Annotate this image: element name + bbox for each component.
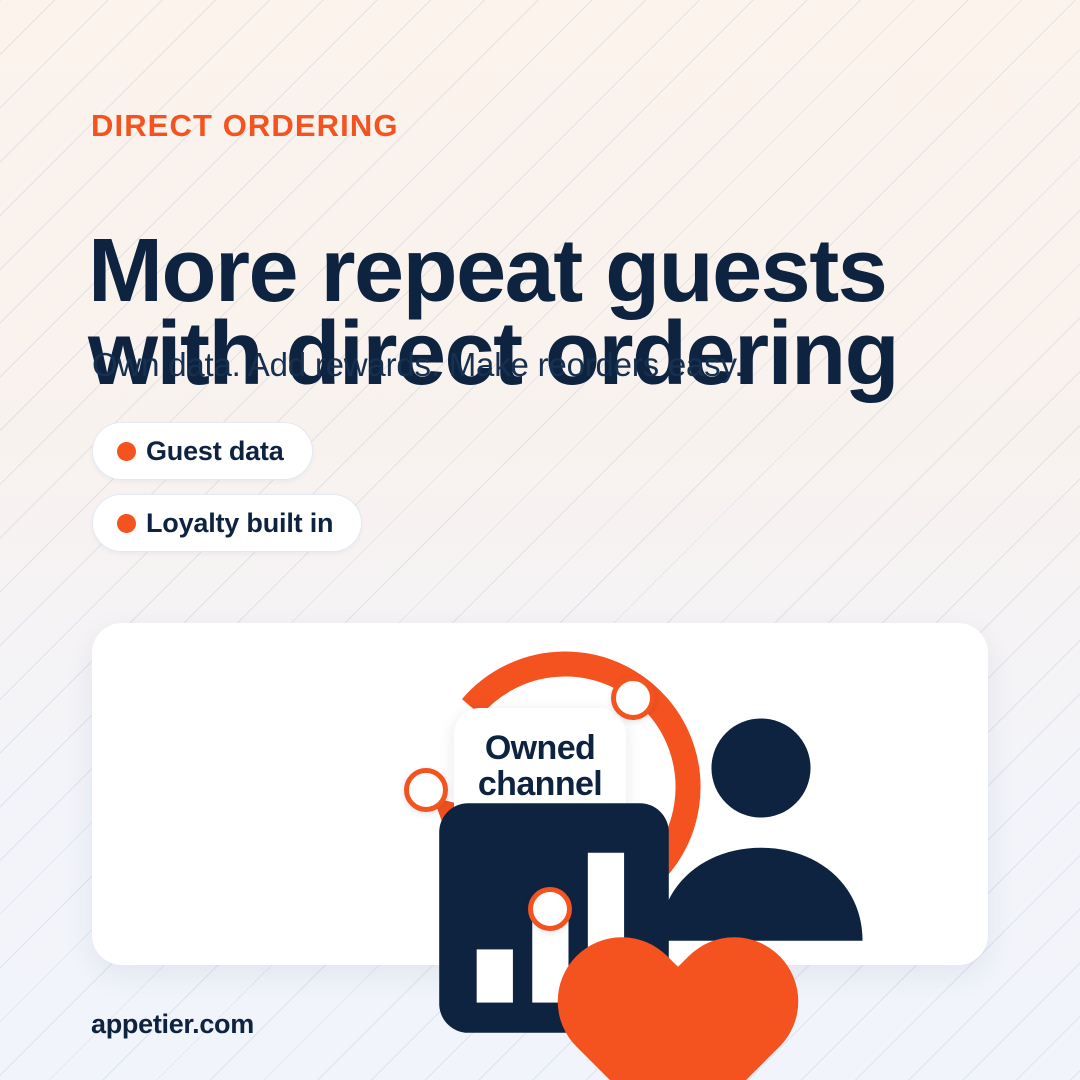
- diagram-card: Owned channel Data → rewards → reorders: [92, 623, 988, 965]
- feature-pill-label: Loyalty built in: [146, 508, 333, 539]
- badge-report: [404, 768, 448, 812]
- feature-pill-label: Guest data: [146, 436, 284, 467]
- bullet-dot-icon: [117, 514, 136, 533]
- bullet-dot-icon: [117, 442, 136, 461]
- footer-domain: appetier.com: [91, 1009, 254, 1040]
- subheadline: Own data. Add rewards. Make reorders eas…: [92, 345, 743, 385]
- center-title-line-1: Owned: [485, 729, 595, 767]
- badge-heart: [528, 887, 572, 931]
- heart-icon: [533, 892, 823, 1080]
- eyebrow-label: DIRECT ORDERING: [91, 110, 399, 141]
- owned-channel-cycle-diagram: Owned channel Data → rewards → reorders: [395, 649, 685, 939]
- feature-pill-guest-data[interactable]: Guest data: [92, 422, 313, 480]
- poster-canvas: DIRECT ORDERING More repeat guests with …: [0, 0, 1080, 1080]
- badge-user: [611, 676, 655, 720]
- feature-pill-loyalty-built-in[interactable]: Loyalty built in: [92, 494, 362, 552]
- feature-pill-list: Guest data Loyalty built in: [92, 422, 362, 552]
